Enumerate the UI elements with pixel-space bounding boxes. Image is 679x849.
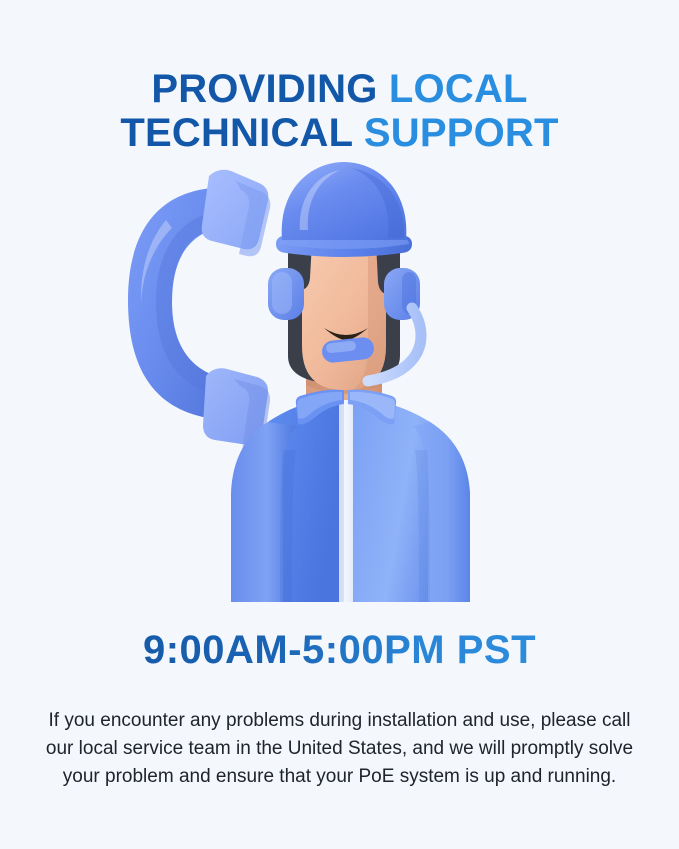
phone-handset-icon bbox=[128, 170, 270, 452]
support-description: If you encounter any problems during ins… bbox=[40, 707, 639, 791]
page-title: PROVIDING LOCAL TECHNICAL SUPPORT bbox=[0, 67, 679, 155]
headline-line-2-dark: TECHNICAL bbox=[120, 111, 363, 155]
headline-line-2-light: SUPPORT bbox=[364, 111, 559, 155]
headline-line-1: PROVIDING LOCAL bbox=[0, 67, 679, 111]
headset-earpiece-left bbox=[268, 268, 304, 320]
headline-line-1-dark: PROVIDING bbox=[151, 67, 389, 111]
support-illustration bbox=[0, 150, 679, 605]
headline-line-1-light: LOCAL bbox=[389, 67, 528, 111]
support-poster: PROVIDING LOCAL TECHNICAL SUPPORT bbox=[0, 0, 679, 849]
headline-line-2: TECHNICAL SUPPORT bbox=[0, 111, 679, 155]
support-hours: 9:00AM-5:00PM PST bbox=[0, 627, 679, 673]
headset-agent-icon bbox=[231, 162, 470, 602]
